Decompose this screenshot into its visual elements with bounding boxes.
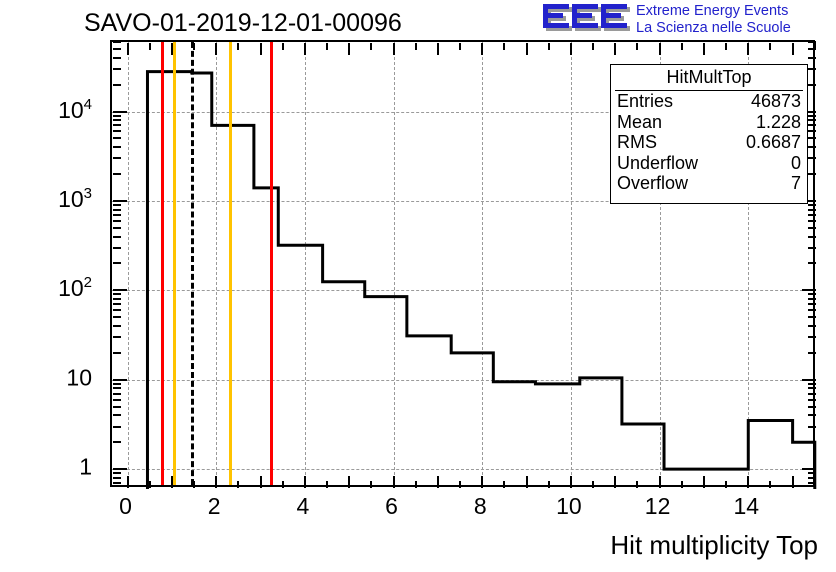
eee-mark-icon <box>541 2 631 36</box>
stats-row-value: 0.6687 <box>746 132 801 153</box>
stats-row: Overflow7 <box>611 173 807 194</box>
x-tick-label: 14 <box>733 493 759 520</box>
marker-yellow-low <box>173 42 176 485</box>
stats-row: Mean1.228 <box>611 112 807 133</box>
stats-row-value: 7 <box>791 173 801 194</box>
stats-row: Entries46873 <box>611 91 807 112</box>
x-tick-label: 2 <box>208 493 221 520</box>
marker-black-mean <box>191 42 194 485</box>
stats-row-label: Entries <box>617 91 673 112</box>
stats-row-label: Mean <box>617 112 662 133</box>
x-tick-label: 6 <box>385 493 398 520</box>
stats-box: HitMultTop Entries46873Mean1.228RMS0.668… <box>610 64 808 204</box>
eee-logo-text: Extreme Energy Events La Scienza nelle S… <box>636 3 791 37</box>
marker-red-low <box>161 42 164 485</box>
stats-title: HitMultTop <box>615 65 803 91</box>
page-title: SAVO-01-2019-12-01-00096 <box>84 9 402 38</box>
marker-yellow-high <box>229 42 232 485</box>
stats-row-label: Overflow <box>617 173 688 194</box>
plot-canvas: SAVO-01-2019-12-01-00096 Extreme Energy … <box>0 0 836 572</box>
stats-row-label: RMS <box>617 132 657 153</box>
stats-row-value: 1.228 <box>756 112 801 133</box>
stats-row-value: 0 <box>791 153 801 174</box>
x-tick-label: 4 <box>296 493 309 520</box>
y-tick-label: 103 <box>0 185 92 213</box>
x-tick-label: 10 <box>556 493 582 520</box>
stats-row-label: Underflow <box>617 153 698 174</box>
eee-logo-line2: La Scienza nelle Scuole <box>636 20 791 37</box>
eee-logo: Extreme Energy Events La Scienza nelle S… <box>541 2 834 38</box>
y-tick-label: 1 <box>0 454 92 481</box>
x-tick-label: 12 <box>645 493 671 520</box>
stats-row-value: 46873 <box>751 91 801 112</box>
marker-red-high <box>270 42 273 485</box>
y-tick-label: 104 <box>0 96 92 124</box>
x-axis-title: Hit multiplicity Top <box>610 530 818 561</box>
eee-logo-line1: Extreme Energy Events <box>636 3 791 20</box>
x-tick-label: 0 <box>119 493 132 520</box>
y-tick-label: 10 <box>0 364 92 391</box>
x-tick-label: 8 <box>474 493 487 520</box>
y-tick-label: 102 <box>0 275 92 303</box>
stats-row: Underflow0 <box>611 153 807 174</box>
stats-row: RMS0.6687 <box>611 132 807 153</box>
